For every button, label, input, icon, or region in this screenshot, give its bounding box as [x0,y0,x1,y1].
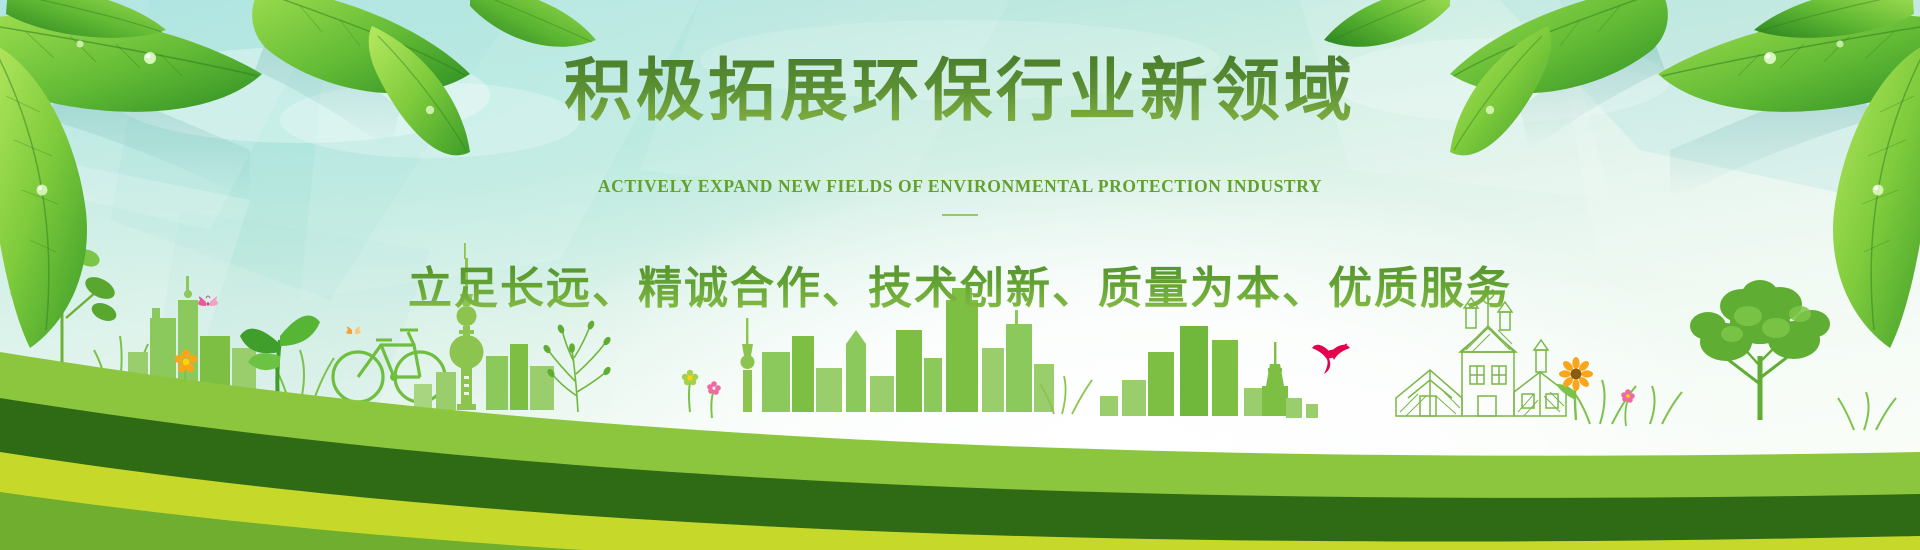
leaves-top-right [0,0,1920,550]
eco-banner: 积极拓展环保行业新领域 ACTIVELY EXPAND NEW FIELDS O… [0,0,1920,550]
leaf [1324,0,1450,47]
